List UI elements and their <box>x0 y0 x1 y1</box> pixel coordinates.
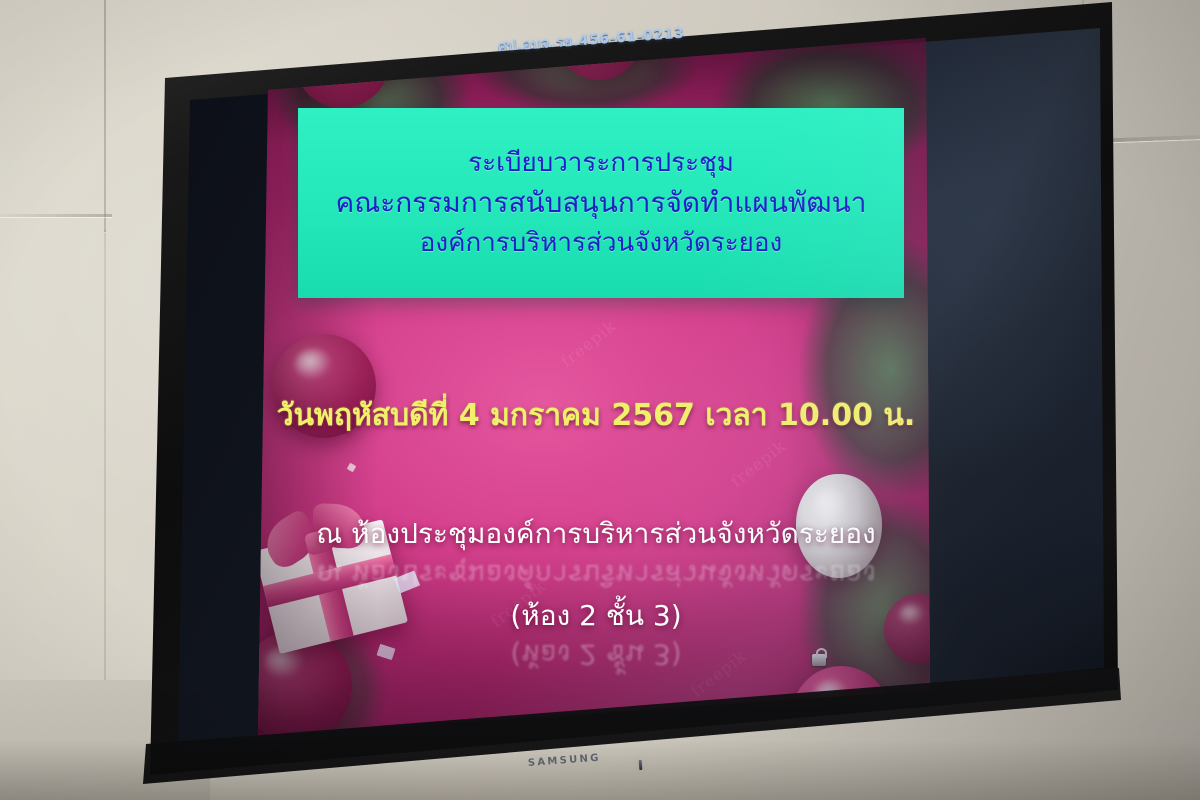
slide-venue-line-1: ณ ห้องประชุมองค์การบริหารส่วนจังหวัดระยอ… <box>256 512 936 556</box>
slide-title-banner: ระเบียบวาระการประชุม คณะกรรมการสนับสนุนก… <box>298 108 904 298</box>
slide-datetime-text: วันพฤหัสบดีที่ 4 มกราคม 2567 เวลา 10.00 … <box>256 392 936 439</box>
power-indicator-led <box>639 760 643 770</box>
slide-venue-line-1-reflection: ณ ห้องประชุมองค์การบริหารส่วนจังหวัดระยอ… <box>256 552 936 596</box>
slide-title-line-1: ระเบียบวาระการประชุม <box>468 148 734 179</box>
slide-venue-line-2-reflection: (ห้อง 2 ชั้น 3) <box>256 632 936 676</box>
tv-brand-logo: SAMSUNG <box>528 753 602 769</box>
slide-text-content: ระเบียบวาระการประชุม คณะกรรมการสนับสนุนก… <box>256 34 936 740</box>
slide-venue-block: ณ ห้องประชุมองค์การบริหารส่วนจังหวัดระยอ… <box>256 512 936 638</box>
presentation-slide[interactable]: ❄ freepik freepik freepik freepik ระเบีย… <box>256 34 936 740</box>
slide-title-line-3: องค์การบริหารส่วนจังหวัดระยอง <box>420 228 782 259</box>
slide-title-line-2: คณะกรรมการสนับสนุนการจัดทำแผนพัฒนา <box>335 186 866 219</box>
slide-venue-line-2: (ห้อง 2 ชั้น 3) <box>256 594 936 638</box>
wall-mounted-television[interactable]: ศป.อบจ.รย.456-61-0213 <box>0 0 1200 800</box>
